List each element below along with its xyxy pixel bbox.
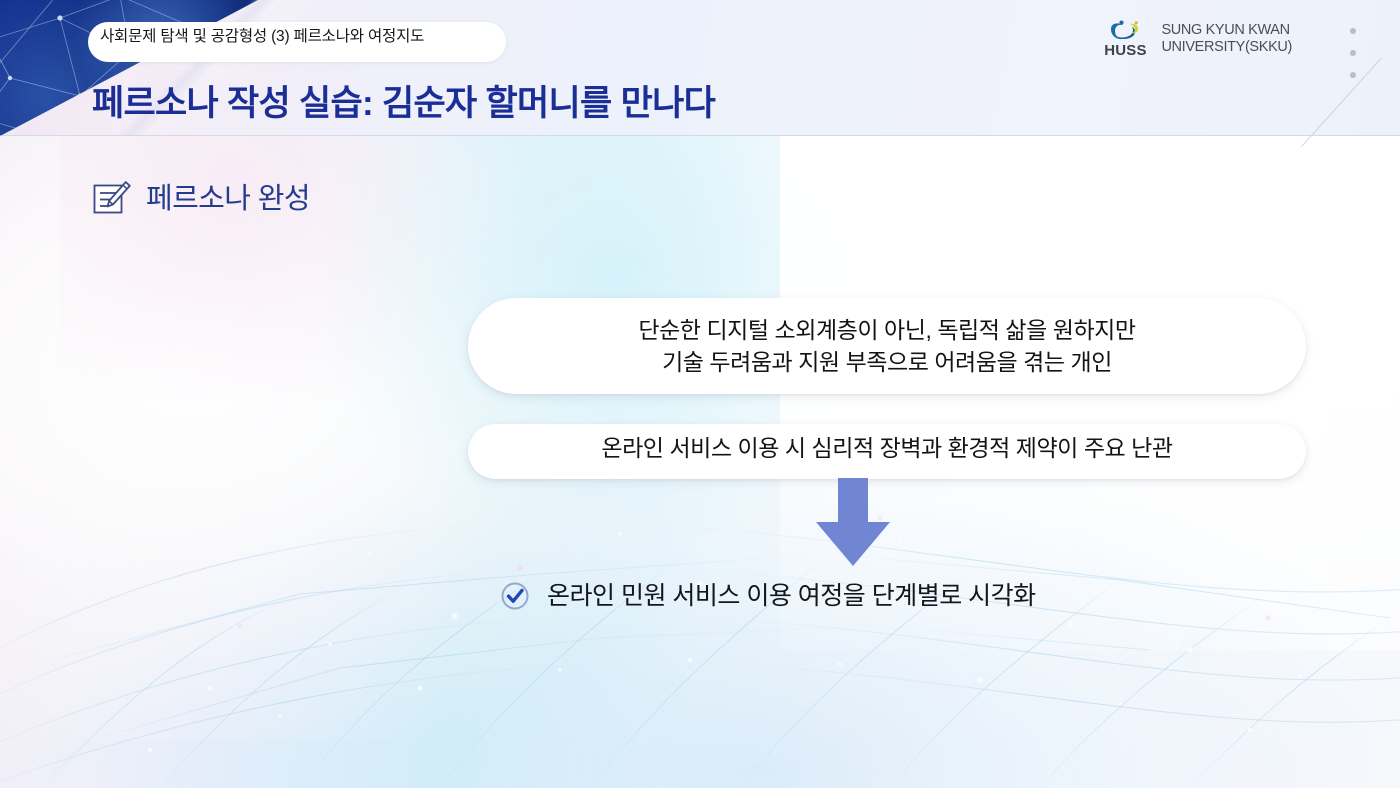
conclusion-row: 온라인 민원 서비스 이용 여정을 단계별로 시각화 — [500, 580, 1036, 612]
check-circle-icon — [500, 581, 530, 611]
section-heading: 페르소나 완성 — [92, 180, 310, 218]
header-divider — [0, 135, 1400, 136]
slide-root: 사회문제 탐색 및 공감형성 (3) 페르소나와 여정지도 페르소나 작성 실습… — [0, 0, 1400, 788]
breadcrumb-label: 사회문제 탐색 및 공감형성 (3) 페르소나와 여정지도 — [100, 26, 508, 48]
page-title: 페르소나 작성 실습: 김순자 할머니를 만나다 — [92, 83, 715, 125]
university-logo: HUSS SUNG KYUN KWAN UNIVERSITY(SKKU) — [1098, 20, 1292, 58]
statement-pill-persona-definition: 단순한 디지털 소외계층이 아닌, 독립적 삶을 원하지만 기술 두려움과 지원… — [468, 298, 1306, 394]
statement-text-persona-definition: 단순한 디지털 소외계층이 아닌, 독립적 삶을 원하지만 기술 두려움과 지원… — [638, 314, 1135, 378]
section-heading-label: 페르소나 완성 — [146, 182, 310, 216]
university-name: SUNG KYUN KWAN UNIVERSITY(SKKU) — [1161, 22, 1292, 56]
header-dot-2 — [1350, 50, 1356, 56]
arrow-down-icon — [812, 478, 894, 568]
header-dot-decorations — [1350, 28, 1356, 94]
conclusion-label: 온라인 민원 서비스 이용 여정을 단계별로 시각화 — [547, 580, 1036, 612]
huss-emblem-icon — [1108, 20, 1142, 42]
statement-pill-key-barrier: 온라인 서비스 이용 시 심리적 장벽과 환경적 제약이 주요 난관 — [468, 424, 1306, 479]
huss-logo-mark: HUSS — [1098, 20, 1152, 58]
header-dot-3 — [1350, 72, 1356, 78]
memo-pencil-icon — [92, 180, 132, 218]
statement-text-key-barrier: 온라인 서비스 이용 시 심리적 장벽과 환경적 제약이 주요 난관 — [496, 432, 1278, 464]
header-dot-1 — [1350, 28, 1356, 34]
huss-wordmark: HUSS — [1104, 43, 1146, 58]
